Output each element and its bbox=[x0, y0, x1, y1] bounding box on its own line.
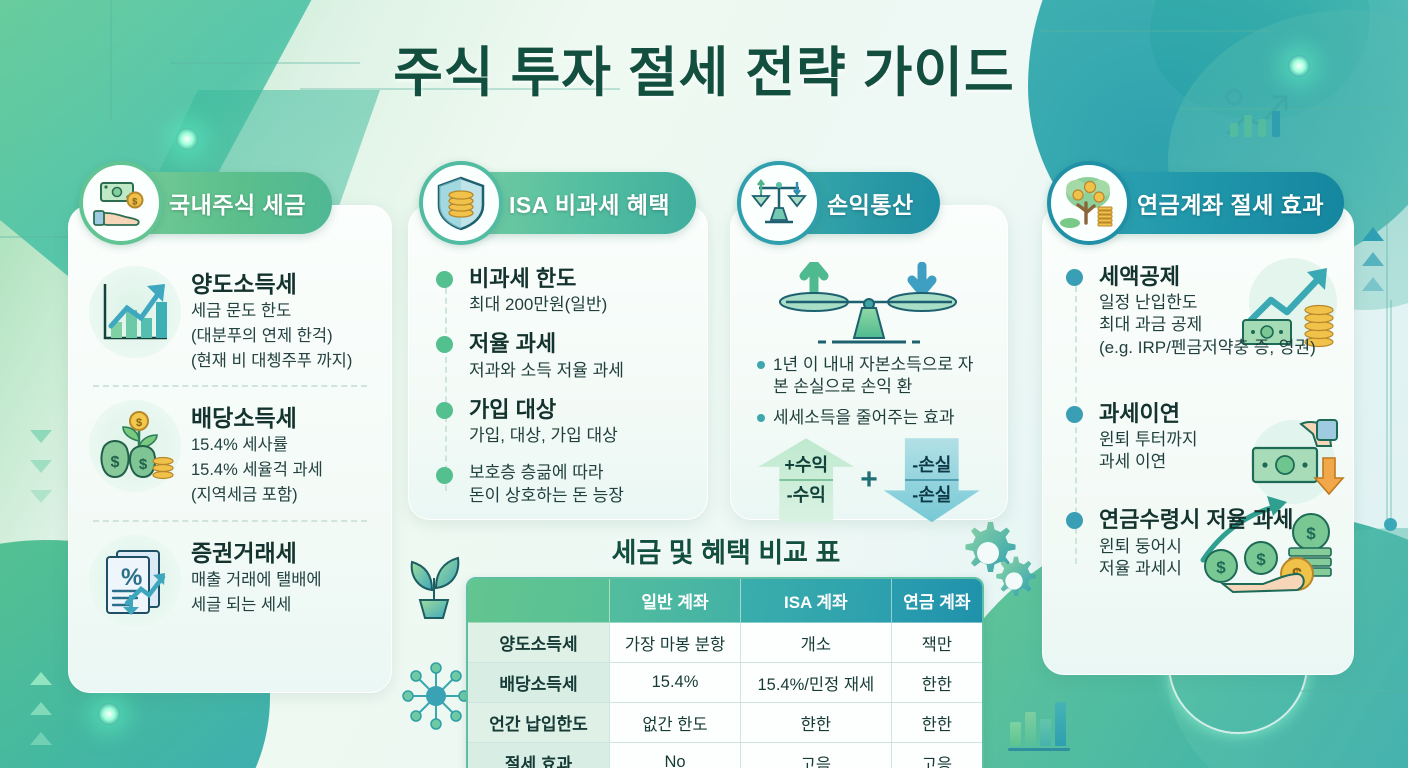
item-line: 15.4% 세사률 bbox=[191, 435, 323, 457]
card-header-profit-loss-offset[interactable]: 손익통산 bbox=[751, 172, 940, 234]
arrow-up-profit-icon: +수익 -수익 bbox=[758, 438, 854, 522]
item-line: (현재 비 대쳉주푸 까지) bbox=[191, 351, 352, 373]
bullet-title: 연금수령시 저율 과세 bbox=[1099, 507, 1339, 533]
triangle-marker-icon bbox=[30, 430, 52, 443]
triangle-marker-icon bbox=[1362, 227, 1384, 241]
arrow-up-top-label: +수익 bbox=[784, 454, 828, 477]
card-body-pension-account: $$$ $ 세액공제 일정 난입한도 최대 과금 공제 (e.g. IRP/펜금… bbox=[1043, 206, 1353, 590]
bullet-sub: 저과와 소득 저율 과세 bbox=[469, 360, 687, 382]
table-header-cell: 일반 계좌 bbox=[610, 579, 741, 623]
bullet-dot-icon bbox=[1066, 512, 1083, 529]
item-title: 배당소득세 bbox=[191, 404, 323, 432]
list-item: 저율 과세 저과와 소득 저율 과세 bbox=[469, 331, 687, 381]
triangle-marker-icon bbox=[30, 490, 52, 503]
percent-document-icon: % bbox=[89, 535, 181, 627]
plus-symbol: + bbox=[860, 463, 878, 497]
card-body-isa-tax-free: 비과세 한도 최대 200만원(일반) 저율 과세 저과와 소득 저율 과세 가… bbox=[409, 206, 707, 525]
profit-loss-arrows: +수익 -수익 + -손실 -손실 bbox=[743, 438, 995, 522]
list-item: $ $ $ 배당소득세 bbox=[89, 400, 371, 506]
card-header-domestic-stock-tax[interactable]: $ 국내주식 세금 bbox=[93, 172, 332, 234]
card-header-label: ISA 비과세 혜택 bbox=[509, 186, 670, 220]
bar-chart-baseline bbox=[1008, 748, 1070, 751]
potted-plant-icon bbox=[398, 540, 470, 620]
bullet-dot-icon bbox=[757, 361, 765, 369]
item-line: 매출 거래에 탤배에 bbox=[191, 570, 322, 592]
divider bbox=[93, 520, 367, 522]
list-item: 1년 이 내내 자본소득으로 자본 손실으로 손익 환 bbox=[757, 354, 981, 398]
gear-small-icon bbox=[988, 555, 1040, 607]
bar-chart-icon bbox=[1010, 700, 1066, 746]
table-cell: 한한 bbox=[892, 703, 982, 743]
list-item: 비과세 한도 최대 200만원(일반) bbox=[469, 266, 687, 316]
table-row-label: 양도소득세 bbox=[468, 623, 610, 663]
card-pension-account-tax-saving: 연금계좌 절세 효과 bbox=[1042, 205, 1354, 675]
list-item: 가입 대상 가입, 대상, 가입 대상 bbox=[469, 397, 687, 447]
list-item: % 증권거래세 매출 거래에 탤배에 세글 되는 세세 bbox=[89, 535, 371, 627]
bullet-list: 세액공제 일정 난입한도 최대 과금 공제 (e.g. IRP/펜금저약충 증,… bbox=[1065, 264, 1339, 580]
bullet-dot-icon bbox=[1066, 406, 1083, 423]
item-line: 15.4% 세율걱 과세 bbox=[191, 460, 323, 482]
svg-text:$: $ bbox=[111, 454, 120, 471]
table-cell: 15.4%/민정 재세 bbox=[741, 663, 892, 703]
table-cell: 15.4% bbox=[610, 663, 741, 703]
card-domestic-stock-tax: $ 국내주식 세금 bbox=[68, 205, 392, 693]
table-header-cell bbox=[468, 579, 610, 623]
bullet-list: 1년 이 내내 자본소득으로 자본 손실으로 손익 환 세세소득을 줄어주는 효… bbox=[743, 354, 995, 429]
bullet-text: 세세소득을 줄어주는 효과 bbox=[773, 407, 955, 429]
list-item: 세세소득을 줄어주는 효과 bbox=[757, 407, 981, 429]
triangle-marker-icon bbox=[30, 460, 52, 473]
bullet-sub: 최대 200만원(일반) bbox=[469, 294, 687, 316]
bullet-dot-icon bbox=[436, 336, 453, 353]
bullet-dot-icon bbox=[1066, 269, 1083, 286]
list-item: 세액공제 일정 난입한도 최대 과금 공제 (e.g. IRP/펜금저약충 증,… bbox=[1099, 264, 1339, 359]
bullet-list: 비과세 한도 최대 200만원(일반) 저율 과세 저과와 소득 저율 과세 가… bbox=[435, 266, 687, 507]
svg-text:$: $ bbox=[132, 197, 138, 207]
item-line: 세글 되는 세세 bbox=[191, 595, 322, 617]
triangle-marker-icon bbox=[1362, 252, 1384, 266]
list-item: 양도소득세 세금 문도 한도 (대분푸의 연제 한걱) (현재 비 대쳉주푸 까… bbox=[89, 266, 371, 372]
table-cell: 잭만 bbox=[892, 623, 982, 663]
balance-scale-icon bbox=[737, 161, 821, 245]
balance-scale-illustration-icon bbox=[774, 262, 964, 350]
table-row: 언간 납입한도 없간 한도 햔한 한한 bbox=[468, 703, 982, 743]
card-header-label: 국내주식 세금 bbox=[169, 186, 306, 220]
table-cell: 고음 bbox=[741, 743, 892, 768]
triangle-marker-icon bbox=[30, 732, 52, 745]
table-header-cell: 연금 계좌 bbox=[892, 579, 982, 623]
table-cell: No bbox=[610, 743, 741, 768]
table-cell: 한한 bbox=[892, 663, 982, 703]
money-bag-plant-icon: $ $ $ bbox=[89, 400, 181, 492]
table-header-row: 일반 계좌 ISA 계좌 연금 계좌 bbox=[468, 579, 982, 623]
list-item-text: 양도소득세 세금 문도 한도 (대분푸의 연제 한걱) (현재 비 대쳉주푸 까… bbox=[191, 266, 352, 372]
table-cell: 개소 bbox=[741, 623, 892, 663]
bullet-sub: 보호층 층긂에 따라 돈이 상호하는 돈 능장 bbox=[469, 462, 687, 507]
list-item-text: 증권거래세 매출 거래에 탤배에 세글 되는 세세 bbox=[191, 535, 322, 617]
table-body: 양도소득세 가장 마봉 분항 개소 잭만 배당소득세 15.4% 15.4%/민… bbox=[468, 623, 982, 768]
bullet-sub: 일정 난입한도 최대 과금 공제 (e.g. IRP/펜금저약충 증, 영권) bbox=[1099, 292, 1339, 358]
svg-text:%: % bbox=[121, 564, 142, 591]
triangle-marker-icon bbox=[30, 672, 52, 685]
bullet-title: 저율 과세 bbox=[469, 331, 687, 357]
bullet-dot-icon bbox=[436, 467, 453, 484]
bullet-title: 가입 대상 bbox=[469, 397, 687, 423]
bullet-dot-icon bbox=[436, 271, 453, 288]
bullet-sub: 윈퇴 투터까지 과세 이연 bbox=[1099, 429, 1339, 473]
item-title: 증권거래세 bbox=[191, 539, 322, 567]
bullet-title: 비과세 한도 bbox=[469, 266, 687, 292]
money-in-hand-icon: $ bbox=[79, 161, 163, 245]
svg-text:$: $ bbox=[136, 417, 142, 429]
svg-text:$: $ bbox=[139, 456, 148, 473]
table-cell: 가장 마봉 분항 bbox=[610, 623, 741, 663]
item-line: 세금 문도 한도 bbox=[191, 301, 352, 323]
item-title: 양도소득세 bbox=[191, 270, 352, 298]
table-row-label: 배당소득세 bbox=[468, 663, 610, 703]
page-title: 주식 투자 절세 전략 가이드 bbox=[0, 28, 1408, 107]
list-item: 보호층 층긂에 따라 돈이 상호하는 돈 능장 bbox=[469, 462, 687, 507]
card-header-label: 손익통산 bbox=[827, 186, 914, 220]
infographic-canvas: 주식 투자 절세 전략 가이드 $ 국내주식 세금 bbox=[0, 0, 1408, 768]
table-cell: 햔한 bbox=[741, 703, 892, 743]
bullet-sub: 윈퇴 둥어시 저율 과세시 bbox=[1099, 536, 1339, 580]
arrow-up-bottom-label: -수익 bbox=[787, 484, 826, 507]
card-body-domestic-stock-tax: 양도소득세 세금 문도 한도 (대분푸의 연제 한걱) (현재 비 대쳉주푸 까… bbox=[69, 206, 391, 645]
bullet-text: 1년 이 내내 자본소득으로 자본 손실으로 손익 환 bbox=[773, 354, 981, 398]
comparison-table: 일반 계좌 ISA 계좌 연금 계좌 양도소득세 가장 마봉 분항 개소 잭만 … bbox=[466, 577, 984, 768]
triangle-marker-icon bbox=[1362, 277, 1384, 291]
bar-chart-growth-icon bbox=[89, 266, 181, 358]
item-line: (지역세금 포함) bbox=[191, 485, 323, 507]
network-node-icon bbox=[400, 660, 472, 732]
table-header-cell: ISA 계좌 bbox=[741, 579, 892, 623]
arrow-down-loss-icon: -손실 -손실 bbox=[884, 438, 980, 522]
divider bbox=[93, 385, 367, 387]
bullet-title: 과세이연 bbox=[1099, 401, 1339, 427]
table-row: 양도소득세 가장 마봉 분항 개소 잭만 bbox=[468, 623, 982, 663]
card-profit-loss-offset: 손익통산 bbox=[730, 205, 1008, 520]
table-cell: 고응 bbox=[892, 743, 982, 768]
arrow-down-bottom-label: -손실 bbox=[912, 484, 951, 507]
table-cell: 없간 한도 bbox=[610, 703, 741, 743]
arrow-down-top-label: -손실 bbox=[912, 454, 951, 477]
bullet-sub: 가입, 대상, 가입 대상 bbox=[469, 425, 687, 447]
card-body-profit-loss-offset: 1년 이 내내 자본소득으로 자본 손실으로 손익 환 세세소득을 줄어주는 효… bbox=[731, 206, 1007, 532]
table-row: 절세 효과 No 고음 고응 bbox=[468, 743, 982, 768]
bullet-dot-icon bbox=[757, 414, 765, 422]
card-isa-tax-free: ISA 비과세 혜택 비과세 한도 최대 200만원(일반) 저율 과세 저과와… bbox=[408, 205, 708, 520]
bullet-title: 세액공제 bbox=[1099, 264, 1339, 290]
card-header-isa-tax-free[interactable]: ISA 비과세 혜택 bbox=[433, 172, 696, 234]
bullet-dot-icon bbox=[436, 402, 453, 419]
table-row-label: 언간 납입한도 bbox=[468, 703, 610, 743]
list-item: 과세이연 윈퇴 투터까지 과세 이연 bbox=[1099, 401, 1339, 474]
list-item-text: 배당소득세 15.4% 세사률 15.4% 세율걱 과세 (지역세금 포함) bbox=[191, 400, 323, 506]
table-row: 배당소득세 15.4% 15.4%/민정 재세 한한 bbox=[468, 663, 982, 703]
table-row-label: 절세 효과 bbox=[468, 743, 610, 768]
shield-coins-icon bbox=[419, 161, 503, 245]
list-item: 연금수령시 저율 과세 윈퇴 둥어시 저율 과세시 bbox=[1099, 507, 1339, 580]
table-head: 일반 계좌 ISA 계좌 연금 계좌 bbox=[468, 579, 982, 623]
triangle-marker-icon bbox=[30, 702, 52, 715]
item-line: (대분푸의 연제 한걱) bbox=[191, 326, 352, 348]
comparison-table-title: 세금 및 혜택 비교 표 bbox=[466, 531, 986, 570]
